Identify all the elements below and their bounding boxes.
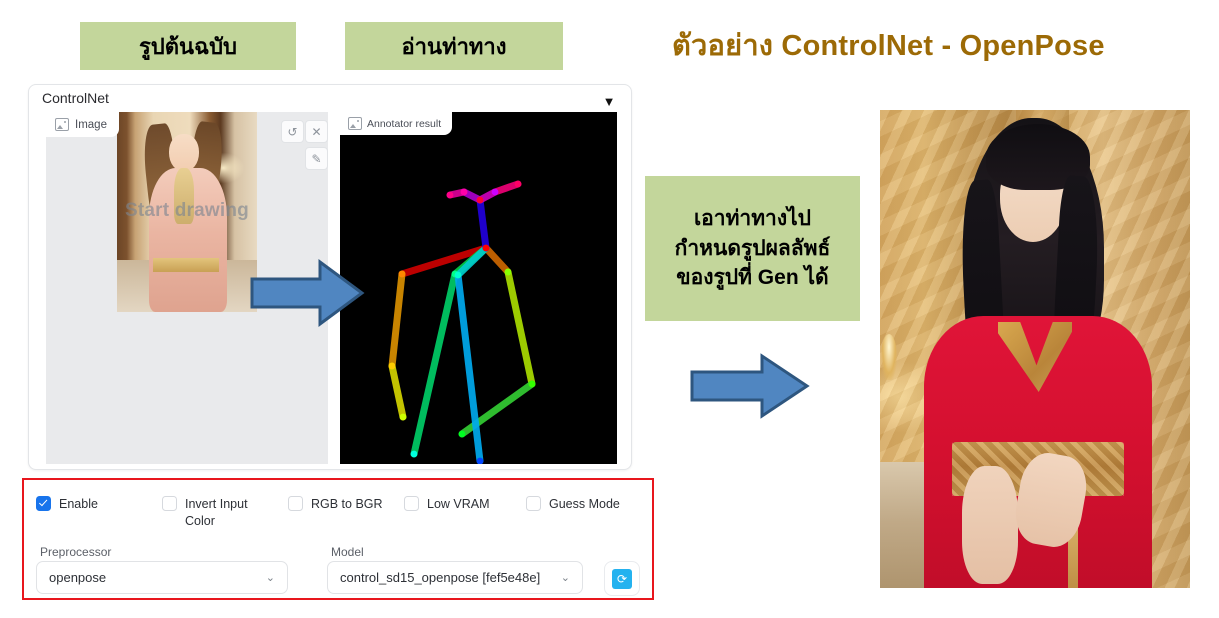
model-label: Model: [331, 545, 364, 559]
checkbox-invert-input-color-box[interactable]: [162, 496, 177, 511]
pose-bone: [508, 272, 532, 384]
chevron-down-icon: ⌄: [266, 571, 275, 584]
checkbox-row: Enable Invert Input Color RGB to BGR Low…: [36, 492, 636, 536]
photo-face: [169, 134, 199, 172]
pose-joint: [483, 245, 490, 252]
caption-read-pose: อ่านท่าทาง: [345, 22, 563, 70]
annotator-result-tab[interactable]: Annotator result: [340, 112, 452, 135]
brush-icon[interactable]: ✎: [305, 147, 328, 170]
pose-joint: [411, 451, 418, 458]
pose-bone: [392, 366, 403, 417]
controlnet-panel-title: ControlNet: [42, 90, 109, 106]
pose-joint: [529, 381, 536, 388]
caption-original-image: รูปต้นฉบับ: [80, 22, 296, 70]
photo-belt: [153, 258, 219, 272]
caption-original-label: รูปต้นฉบับ: [139, 29, 237, 64]
checkbox-low-vram-box[interactable]: [404, 496, 419, 511]
pose-joint: [447, 192, 454, 199]
preprocessor-select[interactable]: openpose ⌄: [36, 561, 288, 594]
pose-bone: [480, 200, 486, 248]
checkbox-enable-label: Enable: [59, 496, 98, 513]
pose-joint: [461, 189, 468, 196]
photo-collar: [174, 168, 194, 224]
caption-apply-pose: เอาท่าทางไป กำหนดรูปผลลัพธ์ ของรูปที่ Ge…: [645, 176, 860, 321]
openpose-skeleton: [340, 112, 617, 464]
checkbox-rgb-to-bgr-label: RGB to BGR: [311, 496, 383, 513]
checkbox-rgb-to-bgr-box[interactable]: [288, 496, 303, 511]
arrow-right-icon-2: [688, 352, 812, 420]
pose-joint: [455, 272, 462, 279]
pose-bones: [392, 184, 532, 461]
annotator-tab-label: Annotator result: [367, 118, 441, 130]
pose-joint: [389, 363, 396, 370]
pose-bone: [414, 274, 455, 454]
arrow-right-icon-1: [248, 257, 366, 329]
caption-apply-line-1: เอาท่าทางไป: [694, 204, 811, 234]
model-select[interactable]: control_sd15_openpose [fef5e48e] ⌄: [327, 561, 583, 594]
caption-apply-line-3: ของรูปที่ Gen ได้: [676, 263, 828, 293]
pose-joint: [505, 269, 512, 276]
pose-joint: [459, 431, 466, 438]
result-image: [880, 110, 1190, 588]
pose-joint: [400, 414, 407, 421]
pose-joint: [399, 271, 406, 278]
image-icon: [348, 117, 362, 130]
checkbox-invert-input-color-label: Invert Input Color: [185, 496, 248, 530]
chevron-down-icon[interactable]: ▼: [600, 92, 618, 110]
image-tab[interactable]: Image: [46, 112, 119, 137]
image-icon: [55, 118, 69, 131]
checkbox-invert-input-color[interactable]: Invert Input Color: [162, 496, 248, 530]
wall-sconce: [881, 334, 897, 380]
undo-icon[interactable]: ↺: [281, 120, 304, 143]
checkbox-rgb-to-bgr[interactable]: RGB to BGR: [288, 496, 383, 513]
checkbox-low-vram-label: Low VRAM: [427, 496, 490, 513]
page-title: ตัวอย่าง ControlNet - OpenPose: [672, 22, 1105, 68]
checkbox-guess-mode-box[interactable]: [526, 496, 541, 511]
checkbox-low-vram[interactable]: Low VRAM: [404, 496, 490, 513]
preprocessor-label: Preprocessor: [40, 545, 111, 559]
pose-bone: [486, 248, 508, 272]
pose-bone: [392, 274, 402, 366]
close-icon[interactable]: ✕: [305, 120, 328, 143]
checkbox-enable-box[interactable]: [36, 496, 51, 511]
caption-apply-line-2: กำหนดรูปผลลัพธ์: [675, 234, 831, 264]
refresh-icon: ⟳: [612, 569, 632, 589]
result-arm-left: [962, 466, 1018, 584]
checkbox-guess-mode[interactable]: Guess Mode: [526, 496, 620, 513]
chevron-down-icon: ⌄: [561, 571, 570, 584]
refresh-models-button[interactable]: ⟳: [604, 561, 640, 596]
pose-joint: [492, 189, 499, 196]
image-tab-label: Image: [75, 119, 107, 131]
preprocessor-value: openpose: [49, 570, 106, 585]
source-image: [117, 112, 257, 312]
checkbox-enable[interactable]: Enable: [36, 496, 98, 513]
caption-read-pose-label: อ่านท่าทาง: [401, 29, 506, 64]
model-value: control_sd15_openpose [fef5e48e]: [340, 570, 540, 585]
pose-joint: [477, 197, 484, 204]
checkbox-guess-mode-label: Guess Mode: [549, 496, 620, 513]
pose-joint: [515, 181, 522, 188]
pose-bone: [495, 184, 518, 192]
